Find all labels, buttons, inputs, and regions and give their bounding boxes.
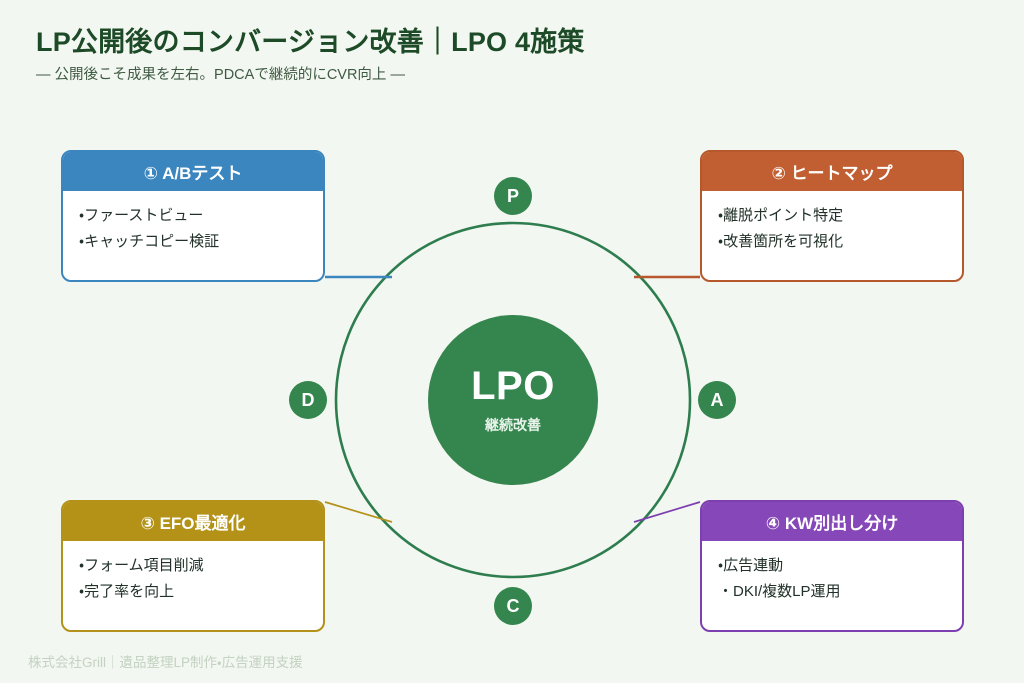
measure-bullet: ・完了率を向上 (79, 579, 307, 605)
footer-note: 株式会社Grill｜遺品整理LP制作・広告運用支援 (28, 651, 303, 671)
measure-bullet: ・改善箇所を可視化 (718, 229, 946, 255)
measure-bullet: ・フォーム項目削減 (79, 553, 307, 579)
measure-card-ab-test: ① A/Bテスト ・ファーストビュー ・キャッチコピー検証 (61, 150, 325, 282)
measure-card-body: ・広告連動 ・DKI/複数LP運用 (702, 541, 962, 619)
measure-card-body: ・離脱ポイント特定 ・改善箇所を可視化 (702, 191, 962, 269)
measure-bullet: ・広告連動 (718, 553, 946, 579)
pdca-badge-act: A (698, 381, 736, 419)
hub-main-label: LPO (471, 366, 555, 406)
measure-bullet: ・キャッチコピー検証 (79, 229, 307, 255)
measure-card-heatmap: ② ヒートマップ ・離脱ポイント特定 ・改善箇所を可視化 (700, 150, 964, 282)
measure-card-title: ② ヒートマップ (702, 152, 962, 191)
measure-bullet: ・DKI/複数LP運用 (718, 579, 946, 605)
measure-card-body: ・フォーム項目削減 ・完了率を向上 (63, 541, 323, 619)
connector-card-4 (634, 502, 700, 522)
page-subtitle: — 公開後こそ成果を左右。PDCAで継続的にCVR向上 — (36, 63, 405, 84)
infographic-canvas: LP公開後のコンバージョン改善｜LPO 4施策 — 公開後こそ成果を左右。PDC… (0, 0, 1024, 683)
hub-sub-label: 継続改善 (485, 415, 541, 435)
lpo-hub: LPO 継続改善 (428, 315, 598, 485)
page-title: LP公開後のコンバージョン改善｜LPO 4施策 (36, 20, 585, 59)
pdca-badge-plan: P (494, 177, 532, 215)
measure-card-title: ④ KW別出し分け (702, 502, 962, 541)
measure-bullet: ・離脱ポイント特定 (718, 203, 946, 229)
measure-card-body: ・ファーストビュー ・キャッチコピー検証 (63, 191, 323, 269)
measure-bullet: ・ファーストビュー (79, 203, 307, 229)
connector-card-3 (325, 502, 392, 522)
measure-card-title: ③ EFO最適化 (63, 502, 323, 541)
pdca-badge-check: C (494, 587, 532, 625)
measure-card-efo: ③ EFO最適化 ・フォーム項目削減 ・完了率を向上 (61, 500, 325, 632)
measure-card-title: ① A/Bテスト (63, 152, 323, 191)
pdca-badge-do: D (289, 381, 327, 419)
measure-card-keyword-split: ④ KW別出し分け ・広告連動 ・DKI/複数LP運用 (700, 500, 964, 632)
